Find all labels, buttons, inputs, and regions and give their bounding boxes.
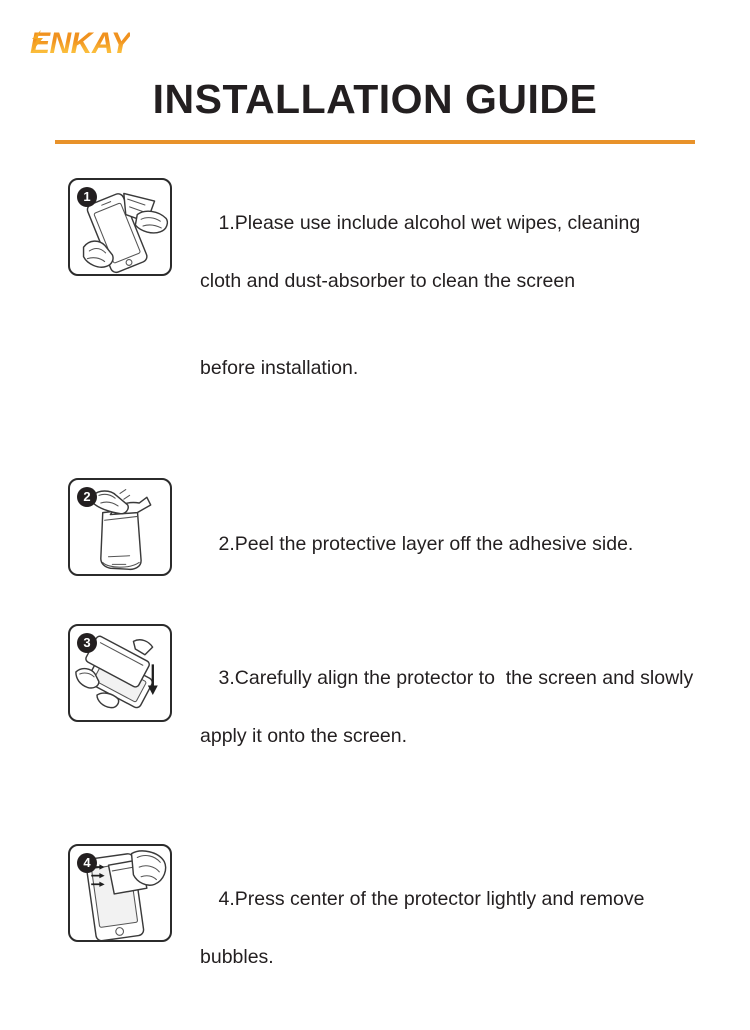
step-2-text: 2.Peel the protective layer off the adhe…	[186, 478, 702, 588]
title-divider	[55, 140, 695, 144]
step-1-text-line-1: 1.Please use include alcohol wet wipes, …	[219, 212, 641, 234]
step-item-1: 1 1.Please use include alcohol wet wipes…	[0, 178, 750, 441]
step-item-4: 4 4.Press center of the protector lightl…	[0, 844, 750, 1030]
step-3-text-line-2: apply it onto the screen.	[186, 722, 702, 751]
brand-logo-text: ENKAY	[30, 26, 130, 62]
step-1-badge: 1	[77, 187, 97, 207]
step-3-text: 3.Carefully align the protector to the s…	[186, 624, 702, 809]
step-item-3: 3 3.Carefully align the protector to the…	[0, 624, 750, 809]
step-1-icon-box: 1	[68, 178, 172, 276]
step-2-text-line-1: 2.Peel the protective layer off the adhe…	[219, 533, 634, 555]
step-4-text: 4.Press center of the protector lightly …	[186, 844, 702, 1030]
page-title: INSTALLATION GUIDE	[0, 76, 750, 123]
step-1-text-line-3: before installation.	[186, 354, 702, 383]
step-4-text-line-1: 4.Press center of the protector lightly …	[219, 888, 645, 910]
step-4-text-line-2: bubbles.	[186, 943, 702, 972]
step-2-badge: 2	[77, 487, 97, 507]
lightning-bolt-icon	[30, 30, 44, 52]
step-1-text: 1.Please use include alcohol wet wipes, …	[186, 178, 702, 441]
step-4-icon-box: 4	[68, 844, 172, 942]
step-3-text-line-1: 3.Carefully align the protector to the s…	[219, 667, 694, 689]
step-1-text-line-2: cloth and dust-absorber to clean the scr…	[186, 267, 702, 296]
step-2-icon-box: 2	[68, 478, 172, 576]
step-3-icon-box: 3	[68, 624, 172, 722]
steps-list: 1 1.Please use include alcohol wet wipes…	[0, 178, 750, 1030]
brand-logo: ENKAY	[30, 26, 230, 62]
step-3-badge: 3	[77, 633, 97, 653]
step-4-badge: 4	[77, 853, 97, 873]
step-item-2: 2 2.Peel the protective layer off the ad…	[0, 478, 750, 588]
